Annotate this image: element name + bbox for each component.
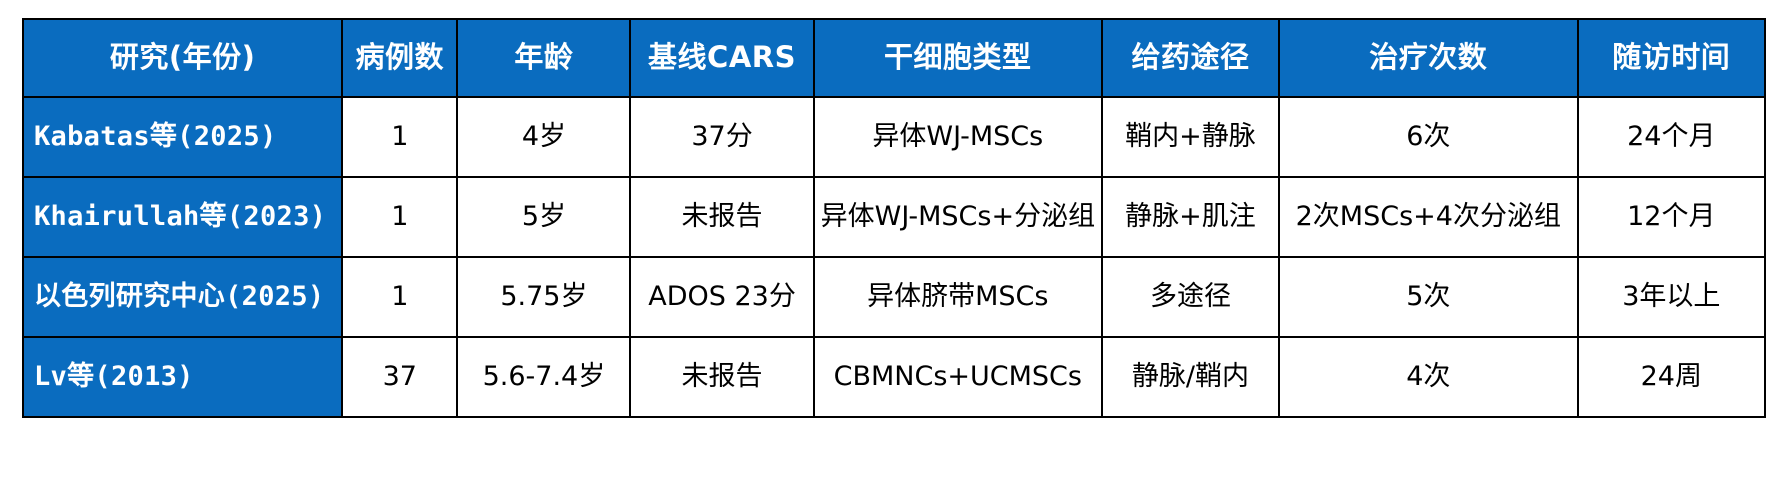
table-row: Kabatas等(2025) 1 4岁 37分 异体WJ-MSCs 鞘内+静脉 …: [23, 97, 1765, 177]
column-header-baseline-cars: 基线CARS: [630, 19, 813, 97]
column-header-cases: 病例数: [342, 19, 457, 97]
cell-cases: 1: [342, 257, 457, 337]
cell-study: Khairullah等(2023): [23, 177, 342, 257]
table-row: Lv等(2013) 37 5.6-7.4岁 未报告 CBMNCs+UCMSCs …: [23, 337, 1765, 417]
column-header-route: 给药途径: [1102, 19, 1279, 97]
cell-cell-type: CBMNCs+UCMSCs: [814, 337, 1102, 417]
cell-followup: 12个月: [1578, 177, 1765, 257]
cell-study: 以色列研究中心(2025): [23, 257, 342, 337]
column-header-age: 年龄: [457, 19, 630, 97]
cell-age: 5.75岁: [457, 257, 630, 337]
table-header: 研究(年份) 病例数 年龄 基线CARS 干细胞类型 给药途径 治疗次数 随访时…: [23, 19, 1765, 97]
cell-cases: 1: [342, 97, 457, 177]
stem-cell-study-table: 研究(年份) 病例数 年龄 基线CARS 干细胞类型 给药途径 治疗次数 随访时…: [22, 18, 1766, 418]
cell-sessions: 6次: [1279, 97, 1578, 177]
column-header-cell-type: 干细胞类型: [814, 19, 1102, 97]
cell-age: 4岁: [457, 97, 630, 177]
table-row: Khairullah等(2023) 1 5岁 未报告 异体WJ-MSCs+分泌组…: [23, 177, 1765, 257]
cell-age: 5岁: [457, 177, 630, 257]
cell-sessions: 2次MSCs+4次分泌组: [1279, 177, 1578, 257]
cell-followup: 3年以上: [1578, 257, 1765, 337]
cell-cell-type: 异体WJ-MSCs: [814, 97, 1102, 177]
header-row: 研究(年份) 病例数 年龄 基线CARS 干细胞类型 给药途径 治疗次数 随访时…: [23, 19, 1765, 97]
cell-sessions: 5次: [1279, 257, 1578, 337]
cell-cases: 1: [342, 177, 457, 257]
table-sheet: 研究(年份) 病例数 年龄 基线CARS 干细胞类型 给药途径 治疗次数 随访时…: [0, 0, 1788, 492]
cell-route: 静脉/鞘内: [1102, 337, 1279, 417]
cell-cases: 37: [342, 337, 457, 417]
cell-sessions: 4次: [1279, 337, 1578, 417]
column-header-followup: 随访时间: [1578, 19, 1765, 97]
table-body: Kabatas等(2025) 1 4岁 37分 异体WJ-MSCs 鞘内+静脉 …: [23, 97, 1765, 417]
cell-cell-type: 异体脐带MSCs: [814, 257, 1102, 337]
cell-route: 多途径: [1102, 257, 1279, 337]
cell-baseline-cars: ADOS 23分: [630, 257, 813, 337]
cell-route: 鞘内+静脉: [1102, 97, 1279, 177]
cell-route: 静脉+肌注: [1102, 177, 1279, 257]
cell-age: 5.6-7.4岁: [457, 337, 630, 417]
cell-followup: 24周: [1578, 337, 1765, 417]
cell-baseline-cars: 37分: [630, 97, 813, 177]
cell-study: Lv等(2013): [23, 337, 342, 417]
column-header-sessions: 治疗次数: [1279, 19, 1578, 97]
cell-followup: 24个月: [1578, 97, 1765, 177]
cell-study: Kabatas等(2025): [23, 97, 342, 177]
cell-baseline-cars: 未报告: [630, 337, 813, 417]
column-header-study: 研究(年份): [23, 19, 342, 97]
cell-cell-type: 异体WJ-MSCs+分泌组: [814, 177, 1102, 257]
table-row: 以色列研究中心(2025) 1 5.75岁 ADOS 23分 异体脐带MSCs …: [23, 257, 1765, 337]
cell-baseline-cars: 未报告: [630, 177, 813, 257]
